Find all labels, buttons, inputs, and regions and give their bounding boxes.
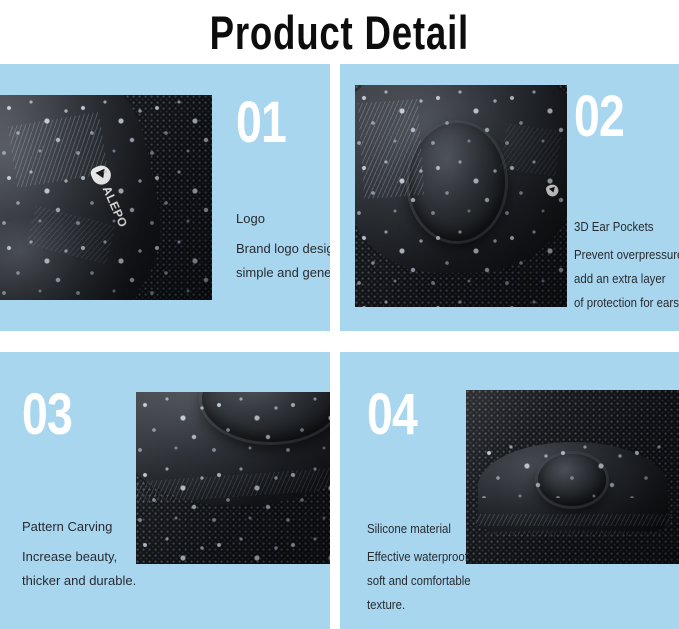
feature-description-04: Effective waterproof, soft and comfortab… (367, 545, 473, 617)
product-photo-silicone-material (466, 390, 679, 564)
feature-description-02-line-2: add an extra layer (574, 267, 671, 291)
feature-description-04-line-1: Effective waterproof, (367, 545, 473, 569)
feature-panel-03: 03 Pattern Carving Increase beauty, thic… (0, 352, 330, 629)
feature-number-03: 03 (22, 386, 114, 444)
feature-description-01-line-2: simple and generous. (236, 261, 330, 285)
feature-description-04-line-2: soft and comfortable (367, 569, 473, 593)
feature-heading-04: Silicone material (367, 520, 473, 537)
product-photo-pattern-carving (136, 392, 330, 564)
feature-panel-04: 04 Silicone material Effective waterproo… (340, 352, 679, 629)
feature-number-01: 01 (236, 94, 316, 152)
feature-description-03-line-1: Increase beauty, (22, 545, 137, 569)
feature-panel-02: 02 3D Ear Pockets Prevent overpressure, … (340, 64, 679, 331)
product-photo-logo: ALEPO (0, 95, 212, 300)
feature-description-04-line-3: texture. (367, 593, 473, 617)
feature-panel-01: ALEPO 01 Logo Brand logo design, simple … (0, 64, 330, 331)
feature-description-03: Increase beauty, thicker and durable. (22, 545, 137, 593)
photo-lighting-sheen (0, 95, 212, 300)
feature-text-03: 03 Pattern Carving Increase beauty, thic… (22, 386, 137, 593)
feature-panel-grid: ALEPO 01 Logo Brand logo design, simple … (0, 64, 679, 629)
photo-lighting-sheen (136, 392, 330, 564)
feature-heading-03: Pattern Carving (22, 518, 137, 535)
feature-number-02: 02 (574, 88, 662, 146)
feature-description-02: Prevent overpressure, add an extra layer… (574, 243, 671, 315)
photo-lighting-sheen (355, 85, 567, 307)
page-title-text: Product Detail (210, 9, 469, 56)
feature-description-02-line-1: Prevent overpressure, (574, 243, 671, 267)
product-photo-ear-pocket (355, 85, 567, 307)
page-title: Product Detail (0, 0, 679, 64)
feature-text-02: 02 3D Ear Pockets Prevent overpressure, … (574, 88, 679, 315)
photo-lighting-sheen (466, 390, 679, 564)
feature-heading-01: Logo (236, 210, 330, 227)
feature-description-03-line-2: thicker and durable. (22, 569, 137, 593)
feature-text-01: 01 Logo Brand logo design, simple and ge… (236, 94, 330, 285)
feature-description-01: Brand logo design, simple and generous. (236, 237, 330, 285)
feature-description-02-line-3: of protection for ears. (574, 291, 671, 315)
feature-description-01-line-1: Brand logo design, (236, 237, 330, 261)
feature-heading-02: 3D Ear Pockets (574, 218, 671, 235)
feature-number-04: 04 (367, 386, 463, 444)
